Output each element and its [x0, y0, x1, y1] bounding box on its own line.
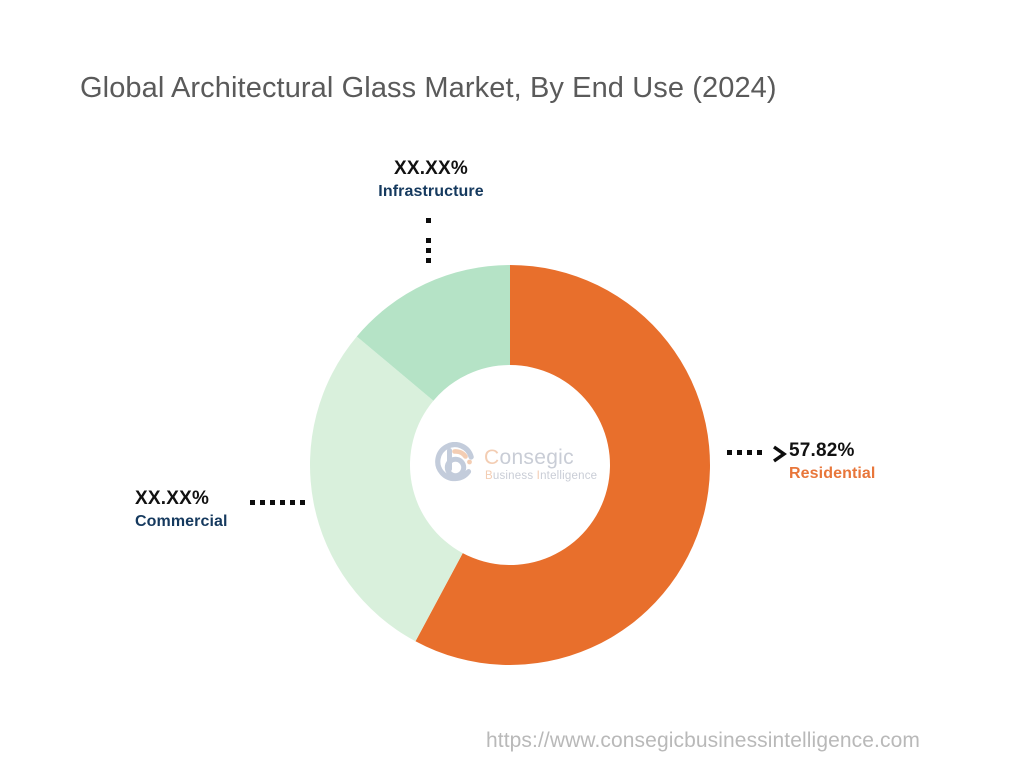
leader-dot [426, 258, 431, 263]
leader-dot [300, 500, 305, 505]
leader-dot [426, 248, 431, 253]
callout-category-infrastructure: Infrastructure [360, 183, 502, 201]
leader-dot [727, 450, 732, 455]
page-title: Global Architectural Glass Market, By En… [80, 72, 777, 105]
leader-dot [426, 218, 431, 223]
callout-percent-residential: 57.82% [789, 440, 979, 462]
leader-line-infrastructure [426, 218, 432, 266]
arrow-head-icon [772, 445, 788, 463]
callout-percent-infrastructure: XX.XX% [360, 158, 502, 180]
callout-infrastructure: XX.XX% Infrastructure [360, 158, 502, 201]
callout-commercial: XX.XX% Commercial [135, 488, 295, 531]
leader-dot [737, 450, 742, 455]
callout-residential: 57.82% Residential [789, 440, 979, 483]
callout-category-commercial: Commercial [135, 513, 295, 531]
leader-dot [747, 450, 752, 455]
leader-line-residential [727, 450, 787, 468]
leader-dot [757, 450, 762, 455]
callout-percent-commercial: XX.XX% [135, 488, 295, 510]
leader-dot [426, 238, 431, 243]
footer-url: https://www.consegicbusinessintelligence… [486, 729, 920, 753]
donut-chart-svg [310, 255, 710, 675]
callout-category-residential: Residential [789, 465, 979, 483]
donut-chart [310, 255, 710, 675]
